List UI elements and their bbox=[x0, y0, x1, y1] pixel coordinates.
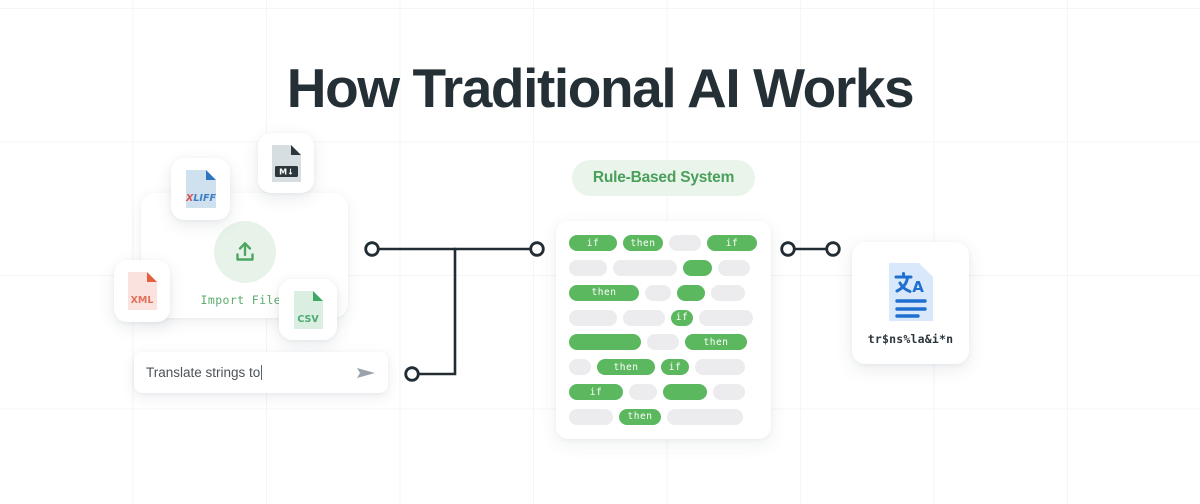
rule-row: ifthenif bbox=[569, 235, 758, 251]
rule-pill-then: then bbox=[597, 359, 655, 375]
node-rules-out bbox=[782, 243, 795, 256]
translate-document-icon: A bbox=[885, 261, 937, 323]
rule-pill-blank bbox=[623, 310, 665, 326]
document-icon: XML bbox=[126, 271, 159, 311]
svg-text:A: A bbox=[912, 278, 924, 296]
rule-pill-blank bbox=[699, 310, 753, 326]
rule-pill-then: then bbox=[619, 409, 661, 425]
rule-pill-blank bbox=[629, 384, 657, 400]
rule-pill-blank bbox=[683, 260, 712, 276]
document-icon: M↓ bbox=[270, 144, 303, 183]
svg-text:XML: XML bbox=[130, 295, 153, 306]
rule-pill-blank bbox=[663, 384, 707, 400]
rules-panel: ifthenifthenifthenthenififthen bbox=[556, 221, 771, 439]
file-card-xliff[interactable]: XLIFF bbox=[171, 158, 230, 220]
rule-row: if bbox=[569, 310, 758, 326]
prompt-input-bar[interactable]: Translate strings to bbox=[134, 352, 388, 393]
rule-row: if bbox=[569, 384, 758, 400]
rule-pill-if: if bbox=[671, 310, 693, 326]
rule-based-system-badge: Rule-Based System bbox=[572, 160, 755, 196]
rule-pill-blank bbox=[711, 285, 745, 301]
upload-icon bbox=[214, 221, 276, 283]
rule-pill-blank bbox=[713, 384, 745, 400]
file-card-markdown[interactable]: M↓ bbox=[258, 133, 314, 193]
rule-pill-blank bbox=[569, 260, 607, 276]
rule-pill-blank bbox=[613, 260, 677, 276]
rule-pill-blank bbox=[569, 409, 613, 425]
node-rules-in bbox=[531, 243, 544, 256]
rule-pill-blank bbox=[645, 285, 671, 301]
rule-row: then bbox=[569, 285, 758, 301]
rule-pill-blank bbox=[695, 359, 745, 375]
file-card-csv[interactable]: CSV bbox=[279, 279, 337, 340]
infographic-canvas: How Traditional AI Works Import Files XL… bbox=[0, 0, 1200, 504]
rule-pill-blank bbox=[569, 359, 591, 375]
rule-pill-then: then bbox=[623, 235, 663, 251]
rule-pill-blank bbox=[647, 334, 679, 350]
node-input-left bbox=[366, 243, 379, 256]
rule-pill-if: if bbox=[569, 235, 617, 251]
svg-text:M↓: M↓ bbox=[279, 167, 294, 176]
rule-pill-blank bbox=[569, 310, 617, 326]
text-caret bbox=[261, 365, 262, 380]
rule-pill-if: if bbox=[569, 384, 623, 400]
page-title: How Traditional AI Works bbox=[0, 55, 1200, 121]
rule-row: then bbox=[569, 409, 758, 425]
file-card-xml[interactable]: XML bbox=[114, 260, 170, 322]
rule-pill-if: if bbox=[661, 359, 689, 375]
rule-pill-then: then bbox=[569, 285, 639, 301]
rule-badge-label: Rule-Based System bbox=[593, 169, 734, 187]
rule-pill-blank bbox=[718, 260, 750, 276]
rule-row: then bbox=[569, 334, 758, 350]
svg-text:CSV: CSV bbox=[297, 314, 319, 325]
send-arrow-icon[interactable] bbox=[356, 365, 376, 381]
node-prompt-out bbox=[406, 368, 419, 381]
rule-pill-blank bbox=[569, 334, 641, 350]
rule-pill-blank bbox=[669, 235, 701, 251]
rule-row: thenif bbox=[569, 359, 758, 375]
rule-pill-blank bbox=[667, 409, 743, 425]
document-icon: XLIFF bbox=[184, 169, 218, 209]
translation-output-card[interactable]: A tr$ns%la&i*n bbox=[852, 242, 969, 364]
node-output-in bbox=[827, 243, 840, 256]
rule-pill-if: if bbox=[707, 235, 757, 251]
prompt-input-field[interactable]: Translate strings to bbox=[146, 365, 350, 380]
document-icon: CSV bbox=[292, 290, 325, 330]
rule-pill-blank bbox=[677, 285, 705, 301]
rule-row bbox=[569, 260, 758, 276]
translation-output-label: tr$ns%la&i*n bbox=[868, 332, 953, 346]
prompt-input-value: Translate strings to bbox=[146, 365, 260, 380]
svg-text:XLIFF: XLIFF bbox=[185, 193, 216, 204]
rule-pill-then: then bbox=[685, 334, 747, 350]
